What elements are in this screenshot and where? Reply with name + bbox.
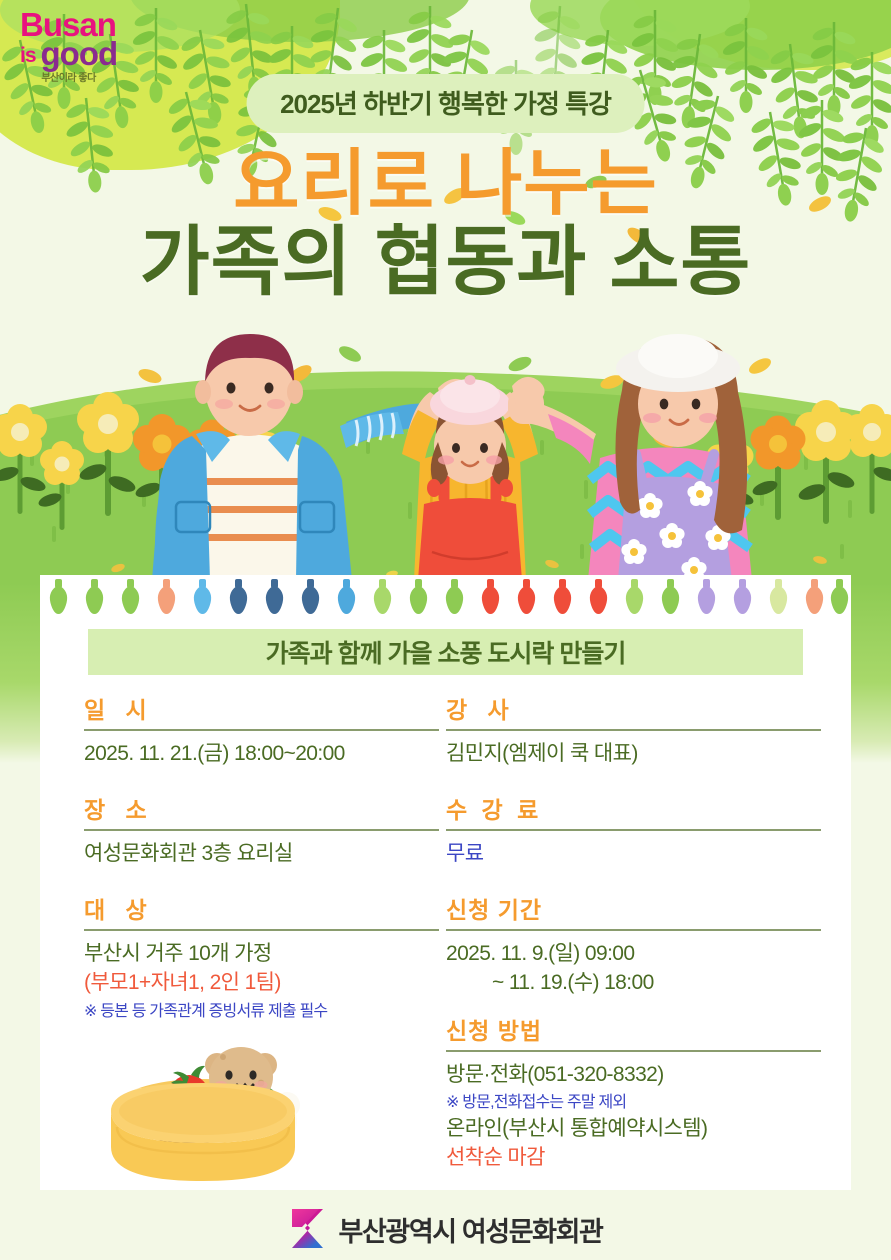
- field-audience-rule: [84, 929, 439, 931]
- field-application-period-rule: [446, 929, 821, 931]
- is-word: is: [20, 44, 36, 67]
- info-column-left: 일 시 2025. 11. 21.(금) 18:00~20:00 장 소 여성문…: [84, 691, 439, 1037]
- field-instructor-value: 김민지(엠제이 쿡 대표): [446, 740, 821, 769]
- event-category-ribbon: 2025년 하반기 행복한 가정 특강: [246, 74, 645, 133]
- field-date-label: 일 시: [84, 691, 439, 729]
- field-audience-value-2: (부모1+자녀1, 2인 1팀): [84, 969, 439, 998]
- field-fee-value: 무료: [446, 840, 821, 869]
- bento-lunchbox-illustration: [95, 1035, 340, 1195]
- side-grass-left: [0, 583, 42, 763]
- field-instructor-label: 강 사: [446, 691, 821, 729]
- field-application-method-label: 신청 방법: [446, 1012, 821, 1050]
- field-application-method-value-1: 방문·전화(051-320-8332): [446, 1061, 821, 1090]
- field-audience-label: 대 상: [84, 891, 439, 929]
- scene-svg: [0, 330, 891, 585]
- busan-is-good-logo: Busan isgood 부산이라 좋다: [20, 8, 117, 84]
- field-date: 일 시 2025. 11. 21.(금) 18:00~20:00: [84, 691, 439, 769]
- tassel-fringe-band: [40, 575, 851, 615]
- field-application-method-value-3: 선착순 마감: [446, 1144, 821, 1173]
- field-location-value: 여성문화회관 3층 요리실: [84, 840, 439, 869]
- subheading-bar: 가족과 함께 가을 소풍 도시락 만들기: [88, 629, 803, 675]
- field-application-period-label: 신청 기간: [446, 891, 821, 929]
- subheading-text: 가족과 함께 가을 소풍 도시락 만들기: [266, 634, 626, 670]
- field-date-rule: [84, 729, 439, 731]
- field-fee-rule: [446, 829, 821, 831]
- field-application-method-note: ※ 방문,전화접수는 주말 제외: [446, 1092, 821, 1114]
- field-application-method-rule: [446, 1050, 821, 1052]
- field-application-method: 신청 방법 방문·전화(051-320-8332) ※ 방문,전화접수는 주말 …: [446, 1012, 821, 1173]
- field-application-method-value-2: 온라인(부산시 통합예약시스템): [446, 1115, 821, 1144]
- busan-logo-line2: isgood: [20, 37, 117, 70]
- busan-womens-culture-center-chevron-icon: [289, 1207, 329, 1251]
- bento-svg: [95, 1035, 340, 1195]
- info-column-right: 강 사 김민지(엠제이 쿡 대표) 수 강 료 무료 신청 기간 2025. 1…: [446, 691, 821, 1187]
- ribbon-label: 2025년 하반기 행복한 가정 특강: [280, 84, 611, 121]
- field-application-period-value-1: 2025. 11. 9.(일) 09:00: [446, 940, 821, 969]
- event-poster: Busan isgood 부산이라 좋다 2025년 하반기 행복한 가정 특강…: [0, 0, 891, 1260]
- field-location-rule: [84, 829, 439, 831]
- good-word: good: [41, 35, 118, 72]
- field-instructor: 강 사 김민지(엠제이 쿡 대표): [446, 691, 821, 769]
- tassel-band-svg: [40, 575, 851, 619]
- field-date-value: 2025. 11. 21.(금) 18:00~20:00: [84, 740, 439, 769]
- field-instructor-rule: [446, 729, 821, 731]
- side-grass-right: [849, 583, 891, 763]
- field-fee-label: 수 강 료: [446, 791, 821, 829]
- title-line-1: 요리로 나누는: [0, 148, 891, 221]
- field-application-period-value-2: ~ 11. 19.(수) 18:00: [446, 969, 821, 998]
- title-line-2: 가족의 협동과 소통: [0, 223, 891, 303]
- footer-organization-name: 부산광역시 여성문화회관: [339, 1210, 603, 1249]
- field-audience-value-1: 부산시 거주 10개 가정: [84, 940, 439, 969]
- field-location-label: 장 소: [84, 791, 439, 829]
- field-fee: 수 강 료 무료: [446, 791, 821, 869]
- footer: 부산광역시 여성문화회관: [0, 1198, 891, 1260]
- poster-title: 요리로 나누는 가족의 협동과 소통: [0, 148, 891, 303]
- field-location: 장 소 여성문화회관 3층 요리실: [84, 791, 439, 869]
- busan-logo-subtitle: 부산이라 좋다: [20, 74, 117, 84]
- field-application-period: 신청 기간 2025. 11. 9.(일) 09:00 ~ 11. 19.(수)…: [446, 891, 821, 998]
- family-scene-illustration: [0, 330, 891, 585]
- field-audience-note: ※ 등본 등 가족관계 증빙서류 제출 필수: [84, 1001, 439, 1023]
- field-audience: 대 상 부산시 거주 10개 가정 (부모1+자녀1, 2인 1팀) ※ 등본 …: [84, 891, 439, 1023]
